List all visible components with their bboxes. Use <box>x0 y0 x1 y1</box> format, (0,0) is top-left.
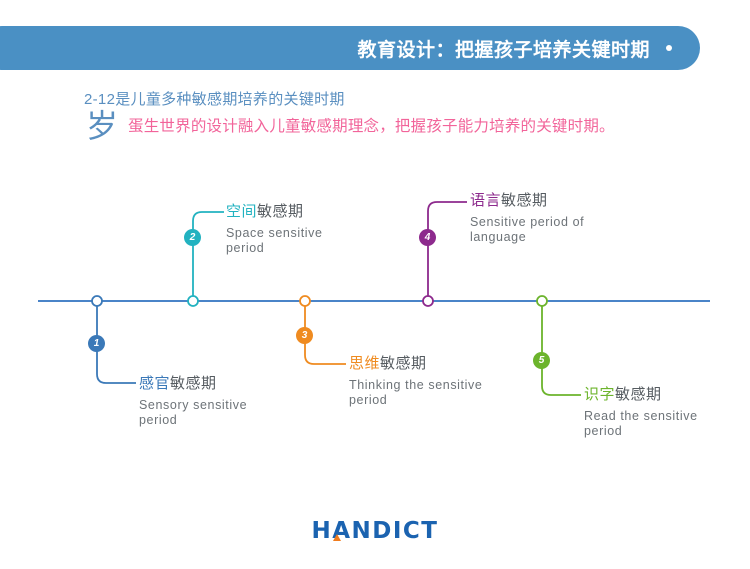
timeline-connector-4 <box>423 202 467 306</box>
timeline-label-5-tail: 敏感期 <box>615 386 662 403</box>
timeline-badge-4-label: 4 <box>425 232 431 243</box>
timeline-graphics <box>0 0 750 569</box>
timeline-label-4-en: Sensitive period of language <box>470 215 584 245</box>
triangle-accent-icon <box>333 534 341 541</box>
timeline-label-2-tail: 敏感期 <box>257 203 304 220</box>
timeline-badge-2[interactable]: 2 <box>184 229 201 246</box>
timeline-badge-5[interactable]: 5 <box>533 352 550 369</box>
brand-logo: HANDICT <box>311 518 438 544</box>
timeline-badge-2-label: 2 <box>190 232 196 243</box>
timeline-label-4-keyword: 语言 <box>470 192 501 209</box>
timeline-label-5-en: Read the sensitive period <box>584 409 698 439</box>
timeline-badge-3-label: 3 <box>302 330 308 341</box>
timeline-label-3-tail: 敏感期 <box>380 355 427 372</box>
timeline-label-2-en: Space sensitive period <box>226 226 323 256</box>
timeline-badge-4[interactable]: 4 <box>419 229 436 246</box>
timeline-label-2-keyword: 空间 <box>226 203 257 220</box>
timeline-label-3[interactable]: 思维敏感期 Thinking the sensitive period <box>349 354 482 408</box>
timeline-label-1-tail: 敏感期 <box>170 375 217 392</box>
timeline-label-2[interactable]: 空间敏感期 Space sensitive period <box>226 202 323 256</box>
timeline-label-1-cn: 感官敏感期 <box>139 374 247 393</box>
subtitle-block: 2-12是儿童多种敏感期培养的关键时期 岁 蛋生世界的设计融入儿童敏感期理念，把… <box>84 90 704 141</box>
subtitle-unit-sui: 岁 <box>86 111 118 141</box>
subtitle-row-2: 岁 蛋生世界的设计融入儿童敏感期理念，把握孩子能力培养的关键时期。 <box>84 111 704 141</box>
timeline-label-3-keyword: 思维 <box>349 355 380 372</box>
timeline-label-5-cn: 识字敏感期 <box>584 385 698 404</box>
timeline-badge-1[interactable]: 1 <box>88 335 105 352</box>
bullet-dot-icon <box>666 45 672 51</box>
timeline-label-1-en: Sensory sensitive period <box>139 398 247 428</box>
timeline-label-4-tail: 敏感期 <box>501 192 548 209</box>
timeline-label-5-keyword: 识字 <box>584 386 615 403</box>
timeline-connector-5 <box>537 296 581 395</box>
footer-logo: HANDICT <box>0 518 750 544</box>
subtitle-line-1: 2-12是儿童多种敏感期培养的关键时期 <box>84 90 704 110</box>
timeline-badge-1-label: 1 <box>94 338 100 349</box>
timeline-label-1[interactable]: 感官敏感期 Sensory sensitive period <box>139 374 247 428</box>
timeline-label-4[interactable]: 语言敏感期 Sensitive period of language <box>470 191 584 245</box>
timeline-label-2-cn: 空间敏感期 <box>226 202 323 221</box>
timeline-badge-3[interactable]: 3 <box>296 327 313 344</box>
brand-logo-text: HANDICT <box>311 518 438 544</box>
timeline-label-4-cn: 语言敏感期 <box>470 191 584 210</box>
header-bar: 教育设计：把握孩子培养关键时期 <box>0 26 700 70</box>
timeline-label-1-keyword: 感官 <box>139 375 170 392</box>
timeline-label-3-en: Thinking the sensitive period <box>349 378 482 408</box>
subtitle-line-2: 蛋生世界的设计融入儿童敏感期理念，把握孩子能力培养的关键时期。 <box>128 116 615 141</box>
timeline-label-3-cn: 思维敏感期 <box>349 354 482 373</box>
timeline-label-5[interactable]: 识字敏感期 Read the sensitive period <box>584 385 698 439</box>
page-title: 教育设计：把握孩子培养关键时期 <box>357 35 650 62</box>
timeline-connector-2 <box>188 212 224 306</box>
timeline-badge-5-label: 5 <box>539 355 545 366</box>
